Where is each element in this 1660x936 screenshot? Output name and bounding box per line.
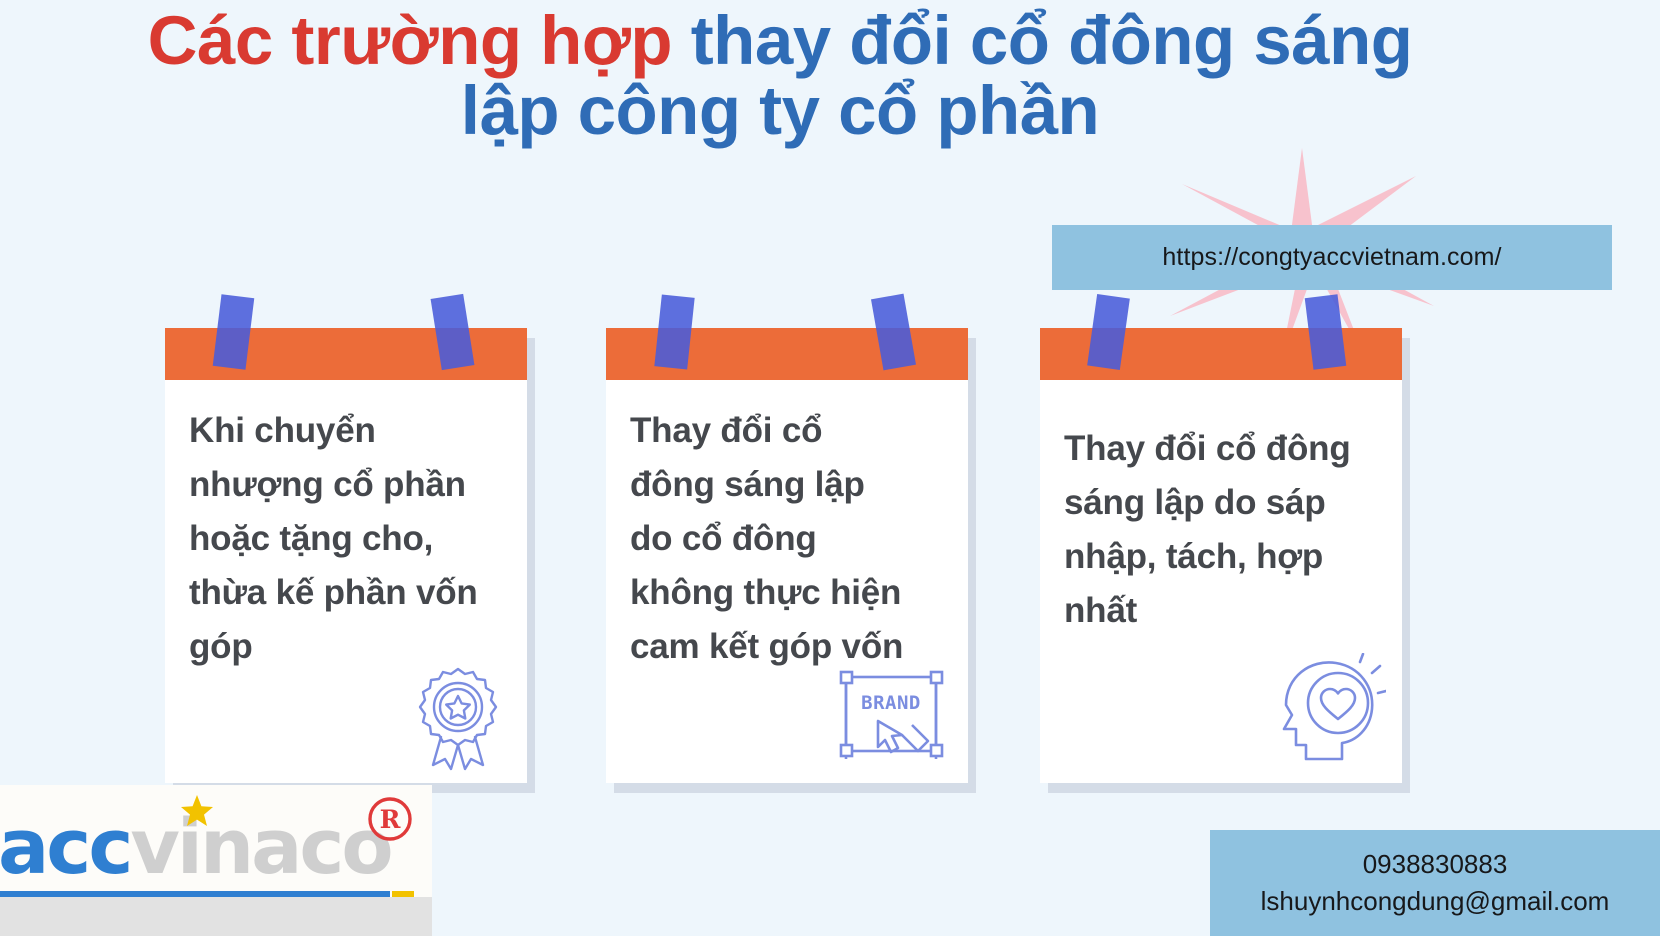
title-line-1: Các trường hợp thay đổi cổ đông sáng [0,6,1560,76]
star-icon [179,793,215,829]
url-banner[interactable]: https://congtyaccvietnam.com/ [1052,225,1612,290]
registered-trademark-icon: R [366,795,414,843]
card-3-text: Thay đổi cổ đông sáng lập do sáp nhập, t… [1064,422,1394,638]
contact-phone: 0938830883 [1363,849,1508,880]
bottom-strip [0,897,432,936]
title-line-2: lập công ty cổ phần [0,76,1560,146]
info-card-3[interactable]: Thay đổi cổ đông sáng lập do sáp nhập, t… [1040,328,1402,783]
infographic-canvas: Các trường hợp thay đổi cổ đông sáng lập… [0,0,1660,936]
url-text: https://congtyaccvietnam.com/ [1162,243,1501,272]
award-ribbon-icon [403,661,513,771]
card-1-text: Khi chuyển nhượng cổ phần hoặc tặng cho,… [189,404,519,673]
title-red-part: Các trường hợp [148,2,672,79]
title-blue-part: thay đổi cổ đông sáng [672,2,1412,79]
svg-text:BRAND: BRAND [861,692,921,714]
card-2-text: Thay đổi cổ đông sáng lập do cổ đông khô… [630,404,960,673]
page-title: Các trường hợp thay đổi cổ đông sáng lập… [0,6,1560,147]
contact-banner[interactable]: 0938830883 lshuynhcongdung@gmail.com [1210,830,1660,936]
accvinaco-logo[interactable]: accvinaco R [0,785,432,897]
logo-acc-text: acc [0,802,130,891]
logo-mark: accvinaco R [0,795,432,895]
head-heart-icon [1266,653,1386,763]
contact-email: lshuynhcongdung@gmail.com [1261,886,1610,917]
logo-vinaco-text: vinaco [130,802,390,891]
brand-selection-icon: BRAND [832,665,950,765]
info-card-1[interactable]: Khi chuyển nhượng cổ phần hoặc tặng cho,… [165,328,527,783]
info-card-2[interactable]: Thay đổi cổ đông sáng lập do cổ đông khô… [606,328,968,783]
svg-text:R: R [380,805,401,834]
